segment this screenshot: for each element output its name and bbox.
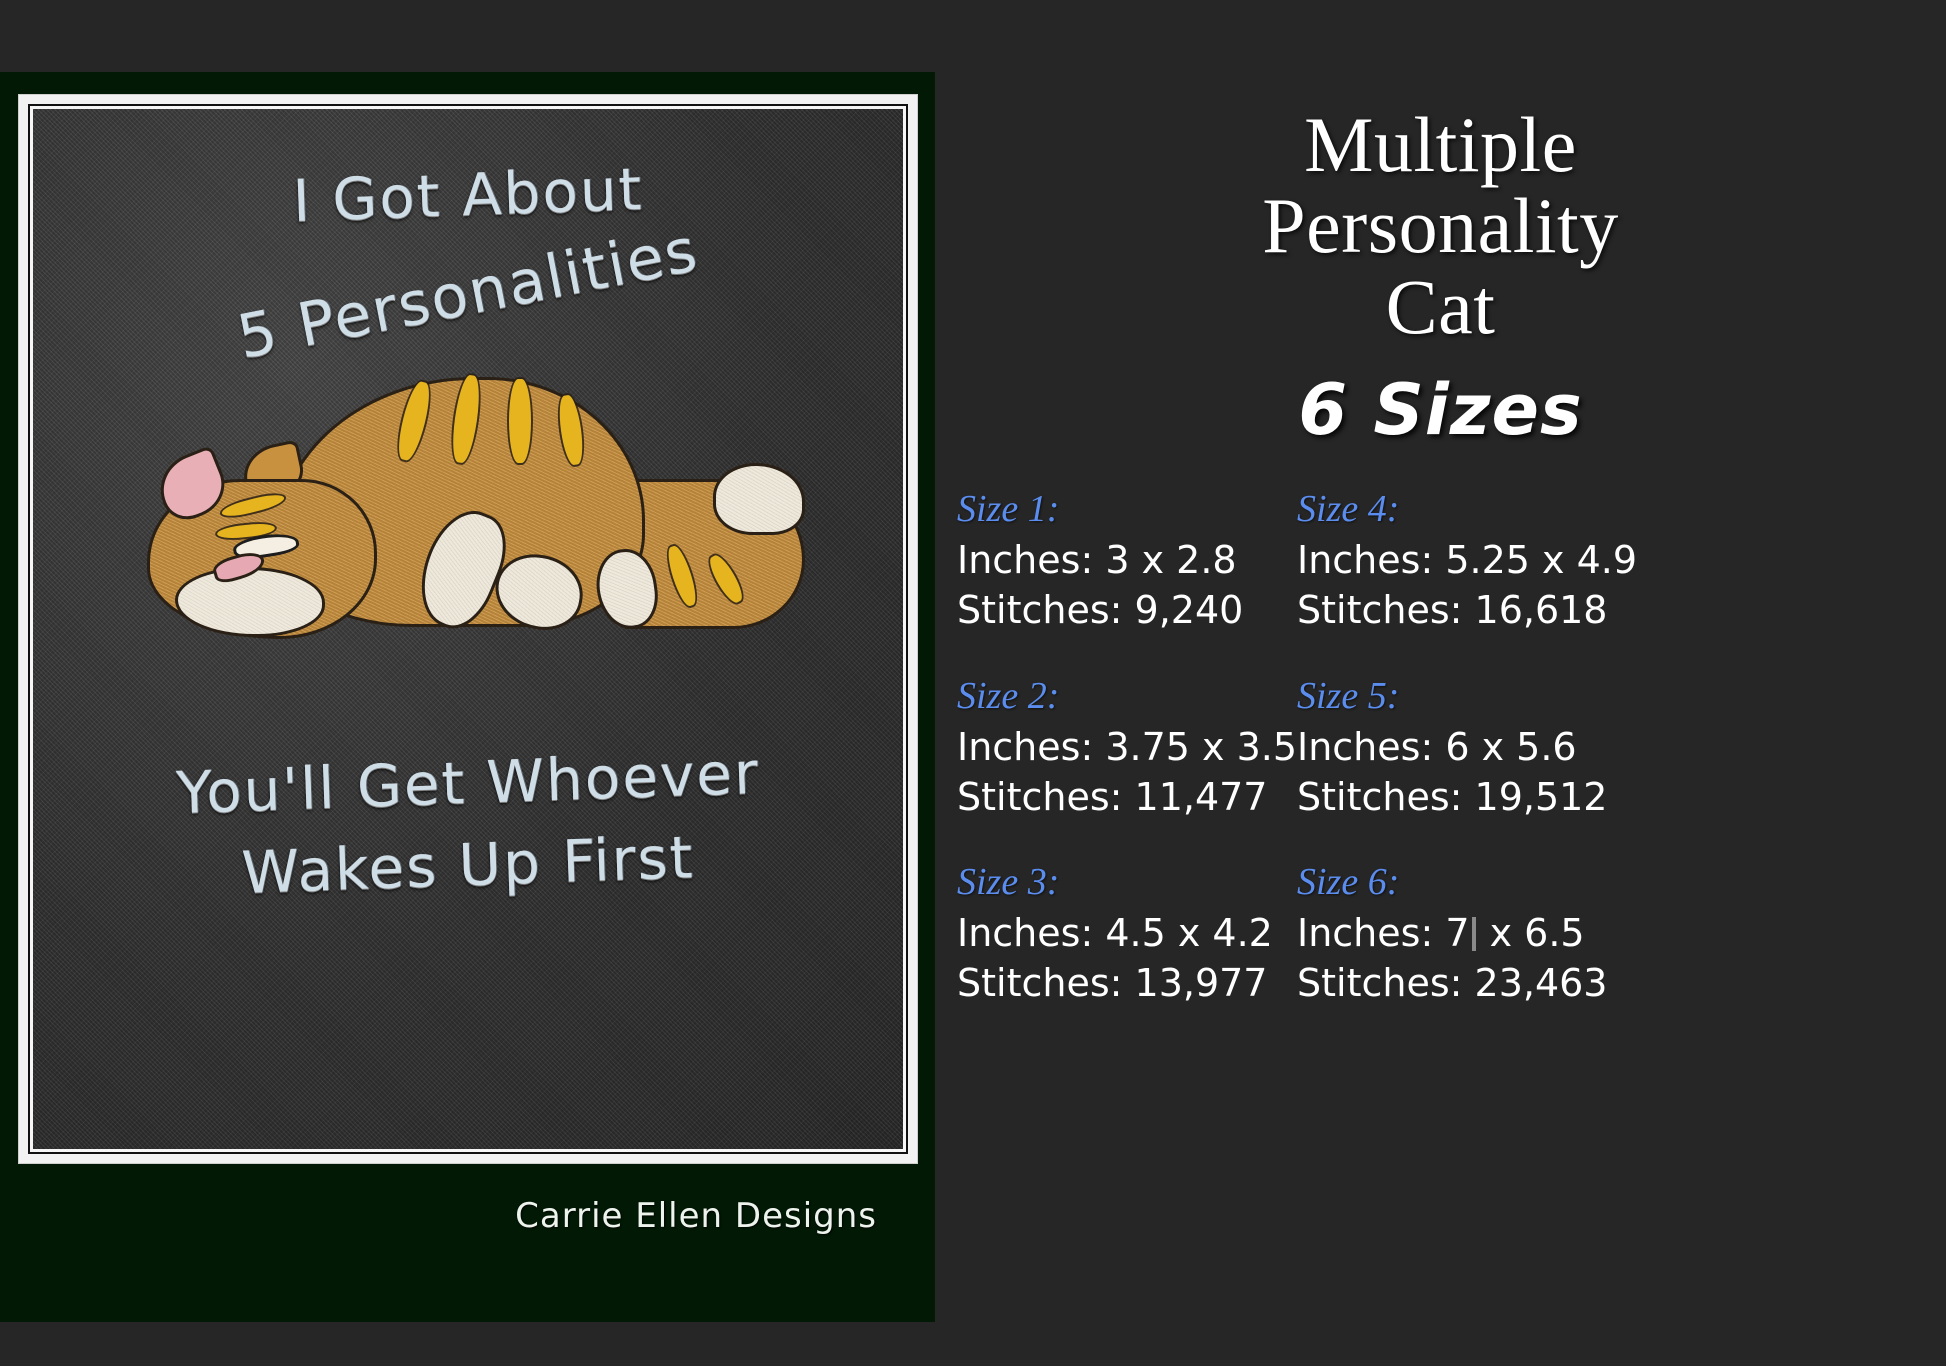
cat-muzzle: [175, 567, 325, 637]
size-entry-1: Size 1: Inches: 3 x 2.8 Stitches: 9,240: [957, 487, 1297, 635]
size-stitches: Stitches: 11,477: [957, 772, 1297, 822]
size-inches-before-caret: Inches: 7: [1297, 911, 1470, 955]
size-stitches: Stitches: 13,977: [957, 958, 1297, 1008]
embroidered-fabric: I Got About 5 Personalities: [33, 109, 903, 1149]
photo-frame: I Got About 5 Personalities: [18, 94, 918, 1164]
sizes-count-subtitle: 6 Sizes: [935, 369, 1946, 451]
design-text-line-1: I Got About: [292, 155, 645, 235]
cat-tail-tip: [713, 463, 805, 535]
size-inches: Inches: 3.75 x 3.5: [957, 722, 1297, 772]
size-stitches: Stitches: 19,512: [1297, 772, 1637, 822]
size-label: Size 3:: [957, 860, 1297, 904]
cat-back-stripe: [509, 379, 531, 463]
size-stitches: Stitches: 16,618: [1297, 585, 1637, 635]
page-title: Multiple Personality Cat: [935, 0, 1946, 347]
size-inches: Inches: 7 x 6.5: [1297, 908, 1637, 958]
title-line-1: Multiple: [991, 104, 1890, 185]
size-stitches: Stitches: 9,240: [957, 585, 1297, 635]
size-inches: Inches: 4.5 x 4.2: [957, 908, 1297, 958]
design-text-line-2: 5 Personalities: [232, 215, 704, 373]
title-line-2: Personality: [991, 185, 1890, 266]
size-label: Size 6:: [1297, 860, 1637, 904]
product-info-panel: Multiple Personality Cat 6 Sizes Size 1:…: [935, 0, 1946, 1366]
size-label: Size 2:: [957, 674, 1297, 718]
text-cursor: [1472, 917, 1476, 951]
design-text-line-3: You'll Get Whoever: [175, 739, 761, 827]
size-entry-5: Size 5: Inches: 6 x 5.6 Stitches: 19,512: [1297, 674, 1637, 822]
size-inches: Inches: 3 x 2.8: [957, 535, 1297, 585]
size-inches: Inches: 6 x 5.6: [1297, 722, 1637, 772]
size-stitches: Stitches: 23,463: [1297, 958, 1637, 1008]
size-label: Size 4:: [1297, 487, 1637, 531]
sleeping-cat-illustration: [125, 359, 825, 679]
size-inches: Inches: 5.25 x 4.9: [1297, 535, 1637, 585]
size-inches-after-caret: x 6.5: [1478, 911, 1585, 955]
size-entry-3: Size 3: Inches: 4.5 x 4.2 Stitches: 13,9…: [957, 860, 1297, 1008]
product-image-panel: I Got About 5 Personalities: [0, 72, 935, 1322]
designer-signature: Carrie Ellen Designs: [515, 1196, 877, 1236]
size-entry-2: Size 2: Inches: 3.75 x 3.5 Stitches: 11,…: [957, 674, 1297, 822]
size-entry-6: Size 6: Inches: 7 x 6.5 Stitches: 23,463: [1297, 860, 1637, 1008]
title-line-3: Cat: [991, 266, 1890, 347]
size-specifications-grid: Size 1: Inches: 3 x 2.8 Stitches: 9,240 …: [957, 487, 1946, 1008]
size-label: Size 1:: [957, 487, 1297, 531]
size-entry-4: Size 4: Inches: 5.25 x 4.9 Stitches: 16,…: [1297, 487, 1637, 635]
frame-inner-border: I Got About 5 Personalities: [28, 104, 908, 1154]
design-text-line-4: Wakes Up First: [241, 823, 696, 907]
size-label: Size 5:: [1297, 674, 1637, 718]
